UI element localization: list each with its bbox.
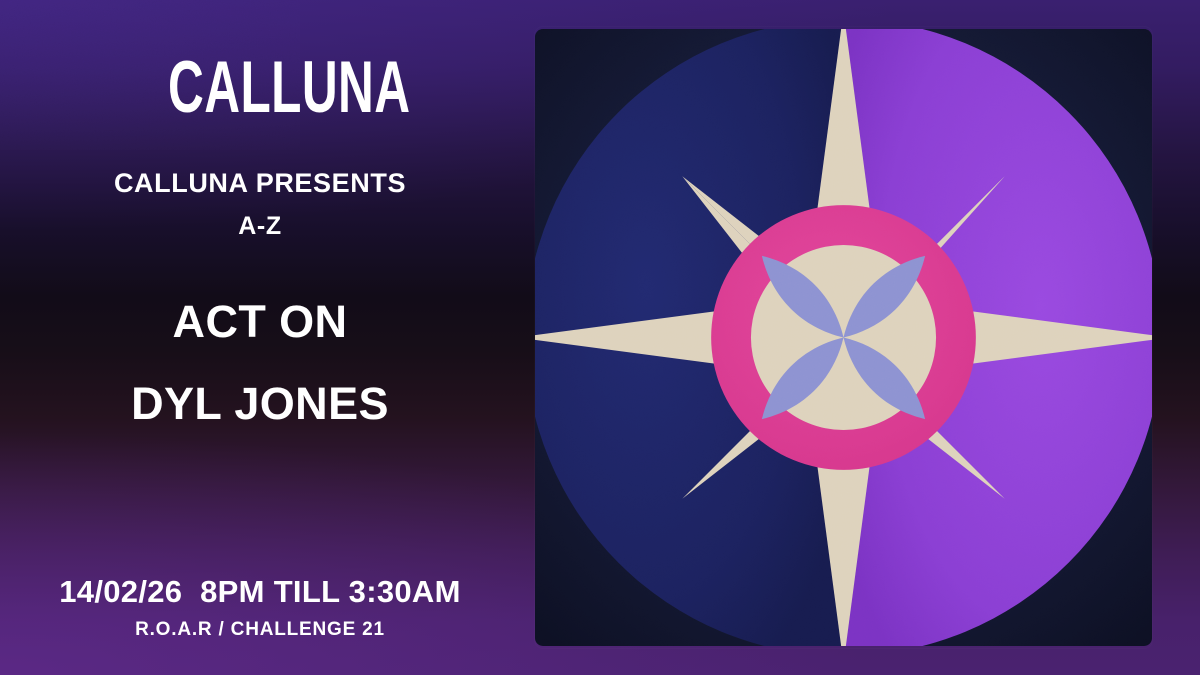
text-column: CALLUNA CALLUNA PRESENTS A-Z ACT ON DYL … xyxy=(0,0,520,675)
brand-logo: CALLUNA xyxy=(168,52,411,125)
event-poster: CALLUNA CALLUNA PRESENTS A-Z ACT ON DYL … xyxy=(0,0,1200,675)
venue-line: R.O.A.R / CHALLENGE 21 xyxy=(0,619,520,641)
series-label: A-Z xyxy=(0,212,520,241)
artwork-panel xyxy=(535,27,1152,648)
artwork-grain xyxy=(535,29,1152,646)
artist-name-1: ACT ON xyxy=(0,296,520,348)
artist-name-2: DYL JONES xyxy=(0,378,520,430)
star-rosette-graphic xyxy=(535,27,1152,648)
presents-line: CALLUNA PRESENTS xyxy=(0,168,520,199)
date-time-line: 14/02/26 8PM TILL 3:30AM xyxy=(0,574,520,610)
